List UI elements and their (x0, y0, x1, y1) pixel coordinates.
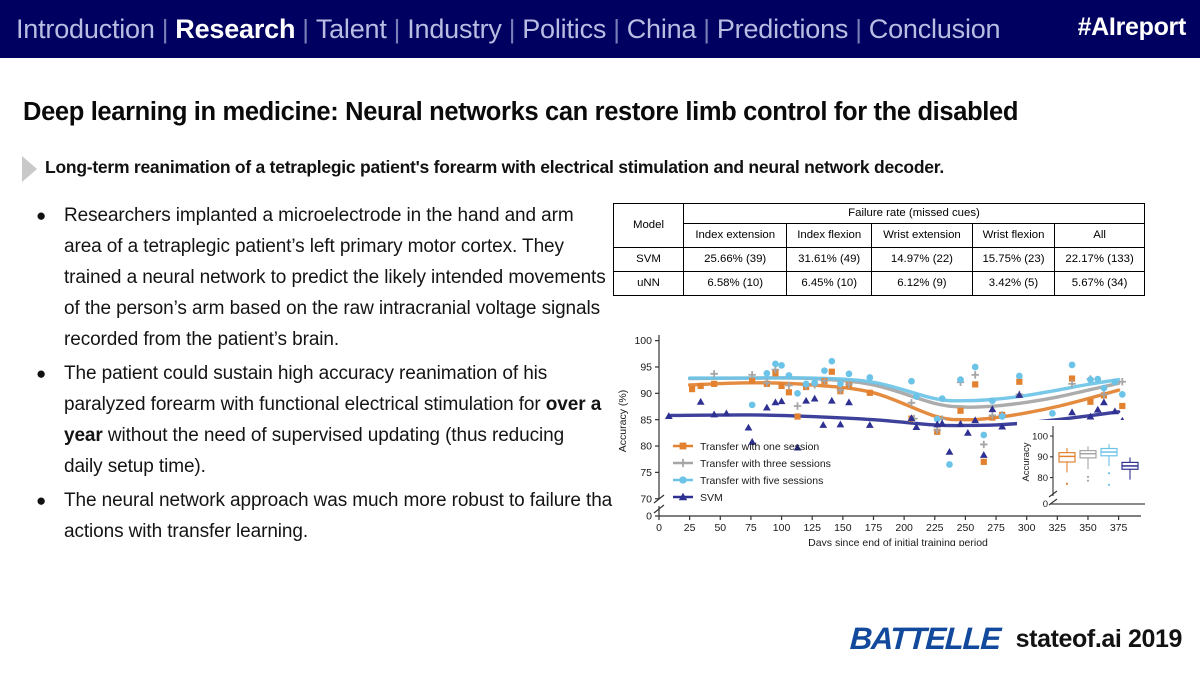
data-point-triangle (772, 398, 780, 405)
page-subtitle: Long-term reanimation of a tetraplegic p… (45, 155, 944, 180)
inset-boxplot: 08090100Accuracy (1017, 420, 1147, 512)
data-point-circle (794, 390, 801, 397)
inset-y-axis-label: Accuracy (1021, 442, 1032, 481)
y-axis-tick-label: 80 (640, 441, 652, 453)
subtitle-row: Long-term reanimation of a tetraplegic p… (22, 155, 944, 182)
data-point-triangle (745, 424, 753, 431)
data-point-plus (794, 402, 801, 409)
legend-entry-1: Transfer with three sessions (673, 458, 831, 470)
bullet-list: ●Researchers implanted a microelectrode … (26, 200, 606, 550)
y-axis-tick-label: 90 (640, 388, 652, 400)
data-point-circle (803, 380, 810, 387)
data-point-square (778, 383, 784, 389)
data-point-triangle (802, 397, 810, 404)
failure-rate-table-container: ModelFailure rate (missed cues)Index ext… (613, 203, 1145, 296)
list-item-text: Researchers implanted a microelectrode i… (64, 200, 606, 355)
data-point-circle (999, 413, 1006, 420)
data-point-square (786, 389, 792, 395)
legend-label: Transfer with one session (700, 441, 819, 453)
data-point-circle (908, 378, 915, 385)
list-item-text: The patient could sustain high accuracy … (64, 358, 606, 482)
data-point-triangle (763, 404, 771, 411)
nav-item-politics[interactable]: Politics (522, 14, 606, 45)
x-axis-tick-label: 0 (656, 522, 662, 534)
data-point-triangle (964, 429, 972, 436)
table-column-header: All (1055, 224, 1145, 248)
table-cell: 31.61% (49) (787, 248, 872, 272)
x-axis-tick-label: 275 (987, 522, 1005, 534)
data-point-square (867, 390, 873, 396)
table-cell-model: uNN (614, 272, 684, 296)
table-cell-model: SVM (614, 248, 684, 272)
x-axis-tick-label: 125 (803, 522, 821, 534)
bullet-point-icon: ● (26, 485, 64, 547)
table-cell: 14.97% (22) (871, 248, 972, 272)
data-point-triangle (946, 448, 954, 455)
data-point-circle (866, 374, 873, 381)
box (1059, 453, 1075, 462)
data-point-circle (1112, 378, 1119, 385)
bullet-point-icon: ● (26, 358, 64, 482)
data-point-circle (972, 364, 979, 371)
data-point-triangle (828, 397, 836, 404)
inset-y-tick-label: 0 (1043, 499, 1048, 510)
data-point-square (829, 369, 835, 375)
y-axis-tick-label: 70 (640, 493, 652, 505)
report-label: stateof.ai 2019 (1016, 625, 1182, 654)
table-header-model: Model (614, 204, 684, 248)
data-point-square (981, 459, 987, 465)
data-point-circle (1069, 362, 1076, 369)
data-point-circle (1119, 391, 1126, 398)
y-axis-tick-label: 0 (646, 511, 652, 523)
nav-separator: | (387, 14, 408, 45)
data-point-square (711, 381, 717, 387)
bullet-point-icon: ● (26, 200, 64, 355)
outlier-point (1108, 484, 1110, 486)
data-point-square (1016, 379, 1022, 385)
data-point-circle (989, 397, 996, 404)
y-axis-tick-label: 100 (634, 335, 652, 347)
data-point-circle (1049, 410, 1056, 417)
table-cell: 3.42% (5) (972, 272, 1054, 296)
data-point-square (794, 413, 800, 419)
battelle-logo: BATTELLE (849, 621, 1001, 657)
table-group-header: Failure rate (missed cues) (684, 204, 1145, 224)
inset-y-tick-label: 90 (1037, 452, 1048, 463)
legend-label: Transfer with three sessions (700, 458, 831, 470)
data-point-circle (1087, 376, 1094, 383)
x-axis-tick-label: 75 (745, 522, 757, 534)
list-item: ●The patient could sustain high accuracy… (26, 358, 606, 482)
data-point-circle (846, 370, 853, 377)
table-column-header: Index flexion (787, 224, 872, 248)
table-cell: 6.58% (10) (684, 272, 787, 296)
data-point-triangle (811, 395, 819, 402)
data-point-triangle (866, 421, 874, 428)
legend-entry-2: Transfer with five sessions (673, 475, 823, 487)
data-point-circle (778, 362, 785, 369)
data-point-circle (679, 476, 686, 483)
table-header-row: ModelFailure rate (missed cues) (614, 204, 1145, 224)
nav-item-research[interactable]: Research (175, 14, 295, 45)
accuracy-over-time-chart: 0707580859095100025507510012515017520022… (613, 328, 1147, 546)
table-column-header: Wrist flexion (972, 224, 1054, 248)
nav-separator: | (155, 14, 176, 45)
x-axis-tick-label: 50 (714, 522, 726, 534)
table-cell: 6.12% (9) (871, 272, 972, 296)
data-point-circle (1101, 385, 1108, 392)
table-column-header: Index extension (684, 224, 787, 248)
y-axis-tick-label: 85 (640, 414, 652, 426)
data-point-plus (679, 459, 687, 467)
data-point-circle (939, 395, 946, 402)
table-cell: 25.66% (39) (684, 248, 787, 272)
data-point-circle (946, 461, 953, 468)
legend-label: SVM (700, 492, 723, 504)
data-point-circle (821, 367, 828, 374)
x-axis-tick-label: 200 (895, 522, 913, 534)
data-point-circle (772, 360, 779, 367)
triangle-right-icon (22, 156, 37, 182)
outlier-point (1087, 476, 1089, 478)
list-item: ●Researchers implanted a microelectrode … (26, 200, 606, 355)
inset-y-tick-label: 80 (1037, 473, 1048, 484)
data-point-square (689, 386, 695, 392)
data-point-triangle (837, 421, 845, 428)
data-point-triangle (1068, 408, 1076, 415)
data-point-triangle (778, 397, 786, 404)
data-point-circle (1094, 376, 1101, 383)
nav-item-china[interactable]: China (627, 14, 697, 45)
inset-y-tick-label: 100 (1032, 431, 1048, 442)
data-point-triangle (723, 409, 731, 416)
nav-item-introduction[interactable]: Introduction (16, 14, 155, 45)
table-row: uNN6.58% (10)6.45% (10)6.12% (9)3.42% (5… (614, 272, 1145, 296)
data-point-circle (837, 380, 844, 387)
nav-item-predictions[interactable]: Predictions (717, 14, 848, 45)
footer: BATTELLE stateof.ai 2019 (850, 621, 1182, 657)
x-axis-tick-label: 325 (1049, 522, 1067, 534)
top-navigation-bar: Introduction|Research|Talent|Industry|Po… (0, 0, 1200, 58)
x-axis-tick-label: 350 (1079, 522, 1097, 534)
y-axis-label: Accuracy (%) (617, 390, 629, 452)
x-axis-tick-label: 250 (957, 522, 975, 534)
outlier-point (1108, 472, 1110, 474)
y-axis-tick-label: 95 (640, 362, 652, 374)
nav-separator: | (848, 14, 869, 45)
nav-item-talent[interactable]: Talent (316, 14, 387, 45)
data-point-square (680, 443, 687, 450)
outlier-point (1087, 480, 1089, 482)
data-point-circle (1016, 373, 1023, 380)
x-axis-label: Days since end of initial training perio… (808, 537, 988, 546)
y-axis-tick-label: 75 (640, 467, 652, 479)
x-axis-tick-label: 150 (834, 522, 852, 534)
nav-separator: | (606, 14, 627, 45)
x-axis-tick-label: 25 (684, 522, 696, 534)
data-point-triangle (819, 421, 827, 428)
data-point-square (957, 408, 963, 414)
data-point-circle (811, 379, 818, 386)
data-point-circle (828, 358, 835, 365)
nav-separator: | (295, 14, 316, 45)
chart-svg: 0707580859095100025507510012515017520022… (613, 328, 1147, 546)
table-cell: 5.67% (34) (1055, 272, 1145, 296)
data-point-triangle (1094, 406, 1102, 413)
data-point-square (972, 381, 978, 387)
data-point-circle (764, 370, 771, 377)
nav-item-conclusion[interactable]: Conclusion (869, 14, 1001, 45)
legend-entry-3: SVM (673, 492, 723, 504)
data-point-circle (957, 376, 964, 383)
x-axis-tick-label: 225 (926, 522, 944, 534)
data-point-triangle (1100, 398, 1108, 405)
data-point-square (698, 383, 704, 389)
data-point-circle (913, 393, 920, 400)
table-cell: 15.75% (23) (972, 248, 1054, 272)
table-subheader-row: Index extensionIndex flexionWrist extens… (614, 224, 1145, 248)
data-point-plus (980, 441, 987, 448)
nav-separator: | (502, 14, 523, 45)
data-point-circle (749, 402, 756, 409)
data-point-triangle (697, 398, 705, 405)
nav-item-list: Introduction|Research|Talent|Industry|Po… (16, 14, 1000, 45)
x-axis-tick-label: 100 (773, 522, 791, 534)
data-point-circle (786, 372, 793, 379)
data-point-plus (971, 371, 978, 378)
data-point-square (1119, 403, 1125, 409)
nav-separator: | (696, 14, 717, 45)
legend-label: Transfer with five sessions (700, 475, 823, 487)
page-title: Deep learning in medicine: Neural networ… (23, 98, 1018, 127)
report-hashtag: #AIreport (1078, 13, 1186, 42)
x-axis-tick-label: 175 (865, 522, 883, 534)
table-row: SVM25.66% (39)31.61% (49)14.97% (22)15.7… (614, 248, 1145, 272)
data-point-triangle (980, 451, 988, 458)
x-axis-tick-label: 375 (1110, 522, 1128, 534)
data-point-triangle (845, 398, 853, 405)
data-point-square (1087, 399, 1093, 405)
x-axis-tick-label: 300 (1018, 522, 1036, 534)
table-cell: 22.17% (133) (1055, 248, 1145, 272)
table-column-header: Wrist extension (871, 224, 972, 248)
table-cell: 6.45% (10) (787, 272, 872, 296)
nav-item-industry[interactable]: Industry (407, 14, 501, 45)
outlier-point (1066, 483, 1068, 485)
data-point-circle (980, 432, 987, 439)
failure-rate-table: ModelFailure rate (missed cues)Index ext… (613, 203, 1145, 296)
legend-entry-0: Transfer with one session (673, 441, 819, 453)
